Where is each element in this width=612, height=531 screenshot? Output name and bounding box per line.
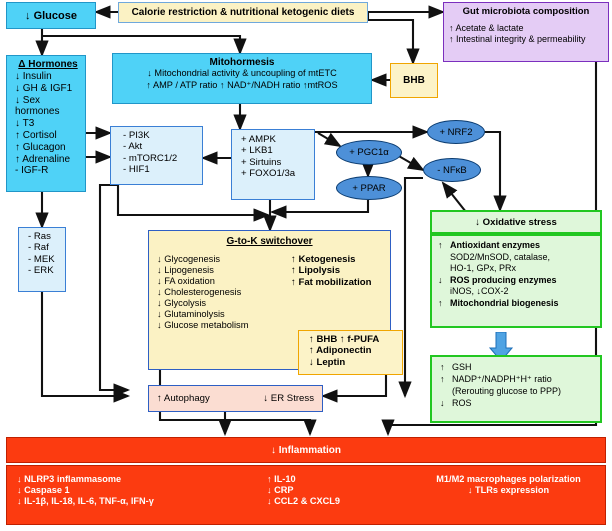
inflammation-col1-line-3: ↓ IL-1β, IL-18, IL-6, TNF-α, IFN-γ xyxy=(17,496,267,507)
antioxidant-arrow-4: ↑ xyxy=(438,298,450,310)
gsh-text-2: NADP⁺/NADPH⁺H⁺ ratio xyxy=(452,374,552,386)
nfkb-label: - NFκB xyxy=(437,165,467,176)
node-bhb-pufa[interactable]: ↑ BHB ↑ f-PUFA ↑ Adiponectin ↓ Leptin xyxy=(298,330,403,375)
gsh-row-4: ↓ ROS xyxy=(440,398,596,410)
pi3k-line-3: - mTORC1/2 xyxy=(123,153,198,164)
bhb-pufa-line-1: ↑ BHB ↑ f-PUFA xyxy=(309,334,398,345)
node-pi3k-pathway[interactable]: - PI3K - Akt - mTORC1/2 - HIF1 xyxy=(110,126,203,185)
antioxidant-arrow-1: ↑ xyxy=(438,240,450,252)
hormones-line-5: ↓ T3 xyxy=(15,118,81,130)
gut-microbiota-line-2: ↑ Intestinal integrity & permeability xyxy=(449,34,603,45)
antioxidant-detail-1: SOD2/MnSOD, catalase, xyxy=(450,252,550,264)
pi3k-line-4: - HIF1 xyxy=(123,164,198,175)
inflammation-col2-line-2: ↓ CRP xyxy=(267,485,422,496)
glucose-label: ↓ Glucose xyxy=(7,10,95,22)
pgc1a-label: + PGC1α xyxy=(349,147,389,158)
mitohormesis-title: Mitohormesis xyxy=(117,57,367,68)
gtok-left-5: ↓ Glycolysis xyxy=(157,298,285,309)
node-inflammation-title[interactable]: ↓ Inflammation xyxy=(6,437,606,463)
ampk-line-1: + AMPK xyxy=(241,134,310,145)
node-oxidative-stress[interactable]: ↓ Oxidative stress xyxy=(430,210,602,234)
mapk-line-2: - Raf xyxy=(28,242,61,253)
antioxidant-arrow-3: ↓ xyxy=(438,275,450,287)
node-nrf2[interactable]: + NRF2 xyxy=(427,120,485,144)
gsh-text-3: (Rerouting glucose to PPP) xyxy=(452,386,561,398)
gsh-arrow-4: ↓ xyxy=(440,398,452,410)
gsh-text-4: ROS xyxy=(452,398,472,410)
node-hormones[interactable]: Δ Hormones ↓ Insulin ↓ GH & IGF1 ↓ Sex h… xyxy=(6,55,86,192)
hormones-line-1: ↓ Insulin xyxy=(15,71,81,83)
antioxidant-row-3-detail: iNOS, ↓COX-2 xyxy=(438,286,596,298)
node-ampk-pathway[interactable]: + AMPK + LKB1 + Sirtuins + FOXO1/3a xyxy=(231,129,315,200)
bhb-pufa-line-3: ↓ Leptin xyxy=(309,357,398,368)
antioxidant-detail-2: HO-1, GPx, PRx xyxy=(450,263,516,275)
hormones-line-3: ↓ Sex xyxy=(15,95,81,107)
ampk-line-3: + Sirtuins xyxy=(241,157,310,168)
mapk-line-3: - MEK xyxy=(28,254,61,265)
pi3k-line-1: - PI3K xyxy=(123,130,198,141)
antioxidant-row-3: ↓ ROS producing enzymes xyxy=(438,275,596,287)
antioxidant-bold-1: Antioxidant enzymes xyxy=(450,240,540,252)
node-mapk-pathway[interactable]: - Ras - Raf - MEK - ERK xyxy=(18,227,66,292)
antioxidant-row-2: HO-1, GPx, PRx xyxy=(438,263,596,275)
hormones-line-8: ↑ Adrenaline xyxy=(15,154,81,166)
node-pgc1a[interactable]: + PGC1α xyxy=(336,140,402,165)
node-nfkb[interactable]: - NFκB xyxy=(423,158,481,182)
inflammation-col2-line-3: ↓ CCL2 & CXCL9 xyxy=(267,496,422,507)
node-antioxidant-enzymes[interactable]: ↑ Antioxidant enzymes SOD2/MnSOD, catala… xyxy=(430,234,602,328)
antioxidant-bold-4: Mitochondrial biogenesis xyxy=(450,298,559,310)
gtok-left-7: ↓ Glucose metabolism xyxy=(157,320,285,331)
node-mitohormesis[interactable]: Mitohormesis ↓ Mitochondrial activity & … xyxy=(112,53,372,104)
bhb-pufa-line-2: ↑ Adiponectin xyxy=(309,345,398,356)
ampk-line-2: + LKB1 xyxy=(241,145,310,156)
gtok-right-3: ↑ Fat mobilization xyxy=(291,277,371,288)
hormones-title: Δ Hormones xyxy=(15,59,81,70)
ppar-label: + PPAR xyxy=(352,183,385,194)
calorie-restriction-label: Calorie restriction & nutritional ketoge… xyxy=(119,7,367,18)
gut-microbiota-line-1: ↑ Acetate & lactate xyxy=(449,23,603,34)
gsh-row-1: ↑ GSH xyxy=(440,362,596,374)
gsh-arrow-2: ↑ xyxy=(440,374,452,386)
antioxidant-row-1-detail: SOD2/MnSOD, catalase, xyxy=(438,252,596,264)
node-bhb[interactable]: BHB xyxy=(390,63,438,98)
antioxidant-detail-3: iNOS, ↓COX-2 xyxy=(450,286,509,298)
node-ppar[interactable]: + PPAR xyxy=(336,176,402,200)
inflammation-col3-line-2: ↓ TLRs expression xyxy=(422,485,595,496)
gtok-right-2: ↑ Lipolysis xyxy=(291,265,371,276)
mapk-line-4: - ERK xyxy=(28,265,61,276)
gsh-arrow-1: ↑ xyxy=(440,362,452,374)
nrf2-label: + NRF2 xyxy=(440,127,473,138)
gtok-left-2: ↓ Lipogenesis xyxy=(157,265,285,276)
gsh-row-3: (Rerouting glucose to PPP) xyxy=(440,386,596,398)
node-gsh-nadp[interactable]: ↑ GSH ↑ NADP⁺/NADPH⁺H⁺ ratio (Rerouting … xyxy=(430,355,602,423)
antioxidant-row-4: ↑ Mitochondrial biogenesis xyxy=(438,298,596,310)
mapk-line-1: - Ras xyxy=(28,231,61,242)
antioxidant-bold-3: ROS producing enzymes xyxy=(450,275,557,287)
node-gut-microbiota[interactable]: Gut microbiota composition ↑ Acetate & l… xyxy=(443,2,609,62)
gtok-left-6: ↓ Glutaminolysis xyxy=(157,309,285,320)
er-stress-label: ↓ ER Stress xyxy=(263,393,314,404)
autophagy-label: ↑ Autophagy xyxy=(157,393,210,404)
node-inflammation-details[interactable]: ↓ NLRP3 inflammasome ↓ Caspase 1 ↓ IL-1β… xyxy=(6,465,606,525)
oxidative-stress-title: ↓ Oxidative stress xyxy=(432,217,600,228)
gtok-left-1: ↓ Glycogenesis xyxy=(157,254,285,265)
g-to-k-title: G-to-K switchover xyxy=(149,231,390,254)
hormones-line-4: hormones xyxy=(15,106,81,118)
gtok-right-1: ↑ Ketogenesis xyxy=(291,254,371,265)
pi3k-line-2: - Akt xyxy=(123,141,198,152)
node-glucose[interactable]: ↓ Glucose xyxy=(6,2,96,29)
hormones-line-2: ↓ GH & IGF1 xyxy=(15,83,81,95)
hormones-line-9: - IGF-R xyxy=(15,165,81,177)
mitohormesis-line-1: ↓ Mitochondrial activity & uncoupling of… xyxy=(117,68,367,80)
ampk-line-4: + FOXO1/3a xyxy=(241,168,310,179)
inflammation-col3-line-1: M1/M2 macrophages polarization xyxy=(422,474,595,485)
inflammation-title: ↓ Inflammation xyxy=(271,445,341,456)
hormones-line-6: ↑ Cortisol xyxy=(15,130,81,142)
inflammation-col1-line-1: ↓ NLRP3 inflammasome xyxy=(17,474,267,485)
inflammation-col2-line-1: ↑ IL-10 xyxy=(267,474,422,485)
inflammation-col1-line-2: ↓ Caspase 1 xyxy=(17,485,267,496)
signalling-network-diagram: ↓ Glucose Calorie restriction & nutritio… xyxy=(0,0,612,531)
antioxidant-row-1: ↑ Antioxidant enzymes xyxy=(438,240,596,252)
mitohormesis-line-2: ↑ AMP / ATP ratio ↑ NAD⁺/NADH ratio ↑mtR… xyxy=(117,80,367,92)
hormones-line-7: ↑ Glucagon xyxy=(15,142,81,154)
gut-microbiota-title: Gut microbiota composition xyxy=(449,6,603,17)
gtok-left-4: ↓ Cholesterogenesis xyxy=(157,287,285,298)
gtok-left-3: ↓ FA oxidation xyxy=(157,276,285,287)
node-calorie-restriction[interactable]: Calorie restriction & nutritional ketoge… xyxy=(118,2,368,23)
bhb-label: BHB xyxy=(391,75,437,86)
node-autophagy-er-stress[interactable]: ↑ Autophagy ↓ ER Stress xyxy=(148,385,323,412)
gsh-text-1: GSH xyxy=(452,362,472,374)
gsh-row-2: ↑ NADP⁺/NADPH⁺H⁺ ratio xyxy=(440,374,596,386)
